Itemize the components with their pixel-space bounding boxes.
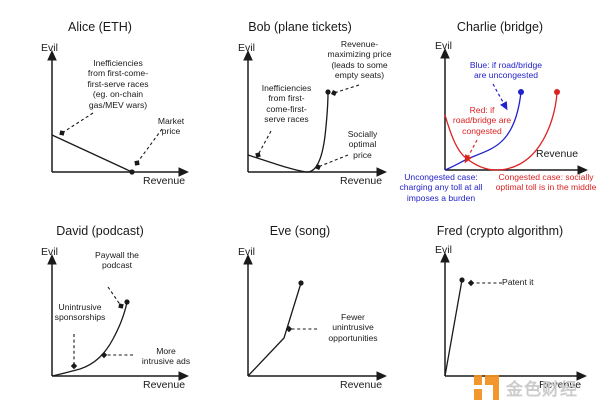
note-market-price: Market price [148, 116, 194, 137]
x-axis-label: Revenue [340, 175, 382, 187]
x-axis-label: Revenue [143, 175, 185, 187]
x-axis-label: Revenue [340, 379, 382, 391]
watermark: 金色财经 [474, 372, 594, 402]
leader-blue-uncongested [493, 84, 504, 104]
panel-alice: Alice (ETH) Evil Revenue Inefficienc [0, 0, 200, 203]
y-axis-label: Evil [435, 40, 452, 52]
note-uncongested-case: Uncongested case: charging any toll at a… [392, 172, 490, 203]
panel-david: David (podcast) Evil Revenue Paywall the… [0, 204, 200, 407]
note-revenue-maximizing-price: Revenue- maximizing price (leads to some… [319, 39, 400, 81]
note-red-congested: Red: if road/bridge are congested [446, 105, 518, 136]
x-axis-label: Revenue [143, 379, 185, 391]
note-patent-it: Patent it [502, 277, 554, 287]
leader-inefficiencies [258, 131, 271, 155]
y-axis-label: Evil [238, 246, 255, 258]
panel-eve: Eve (song) Evil Revenue Fewer unintrusiv… [200, 204, 400, 407]
note-inefficiencies: Inefficiencies from first-come- first-se… [74, 58, 162, 110]
series-evil-vs-revenue [52, 135, 132, 172]
note-more-intrusive-ads: More intrusive ads [136, 346, 196, 367]
endpoint-marker [325, 89, 330, 94]
note-fewer-unintrusive-opportunities: Fewer unintrusive opportunities [320, 312, 386, 343]
jinse-logo-icon [474, 375, 499, 400]
note-socially-optimal-price: Socially optimal price [340, 129, 385, 160]
y-axis-label: Evil [435, 244, 452, 256]
series-evil-vs-revenue [445, 280, 462, 376]
leader-revenue-maximizing [334, 85, 359, 93]
leader-inefficiencies [62, 113, 93, 133]
endpoint-marker [298, 280, 303, 285]
panel-charlie: Charlie (bridge) Evil [400, 0, 600, 203]
x-axis-label: Revenue [536, 148, 578, 160]
chart-eve [200, 204, 400, 407]
y-axis-label: Evil [41, 246, 58, 258]
note-congested-case: Congested case: socially optimal toll is… [490, 172, 600, 193]
watermark-text: 金色财经 [506, 375, 578, 400]
leader-red-congested [468, 140, 477, 157]
endpoint-marker-uncongested [518, 89, 524, 95]
endpoint-marker [129, 169, 134, 174]
panel-bob: Bob (plane tickets) Evil Revenue Revenue… [200, 0, 400, 203]
note-paywall-the-podcast: Paywall the podcast [83, 250, 151, 271]
y-axis-label: Evil [41, 42, 58, 54]
figure-grid: Alice (ETH) Evil Revenue Inefficienc [0, 0, 600, 407]
note-inefficiencies: Inefficiencies from first- come-first- s… [258, 83, 315, 125]
endpoint-marker-congested [554, 89, 560, 95]
endpoint-marker [459, 277, 464, 282]
note-unintrusive-sponsorships: Unintrusive sponsorships [47, 302, 113, 323]
endpoint-marker [124, 299, 129, 304]
y-axis-label: Evil [238, 42, 255, 54]
note-blue-uncongested: Blue: if road/bridge are uncongested [451, 60, 561, 81]
